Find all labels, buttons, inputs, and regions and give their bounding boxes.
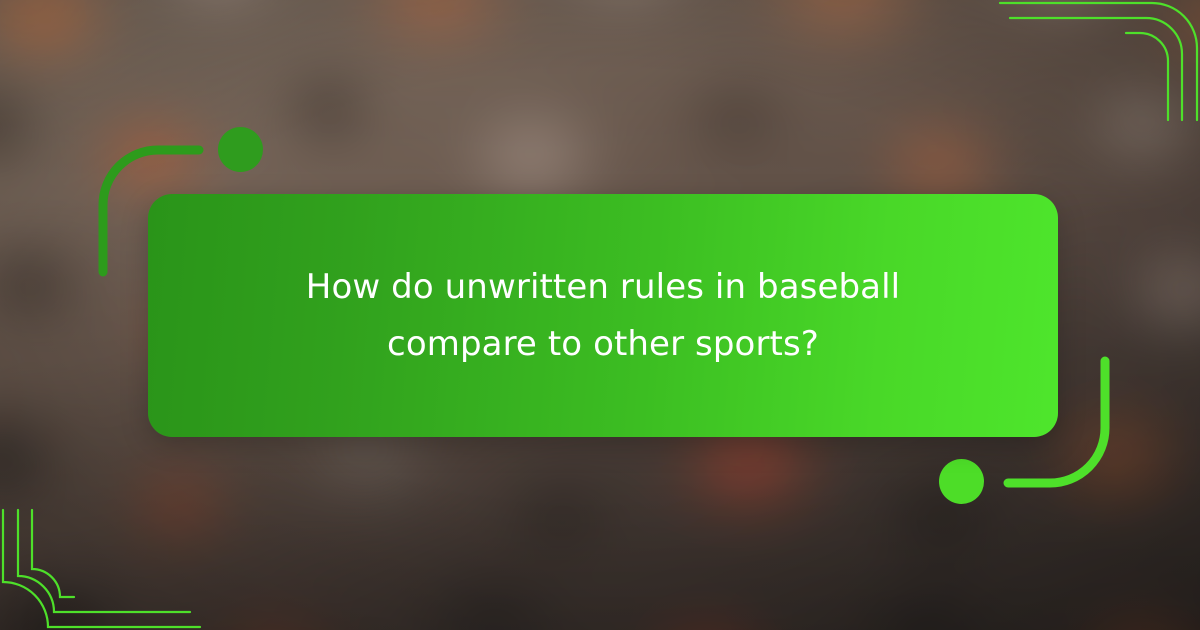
decorative-dot-top (218, 127, 263, 172)
question-card: How do unwritten rules in baseball compa… (148, 194, 1058, 437)
decorative-dot-bottom (939, 459, 984, 504)
social-card-canvas: How do unwritten rules in baseball compa… (0, 0, 1200, 630)
question-text: How do unwritten rules in baseball compa… (208, 259, 998, 371)
